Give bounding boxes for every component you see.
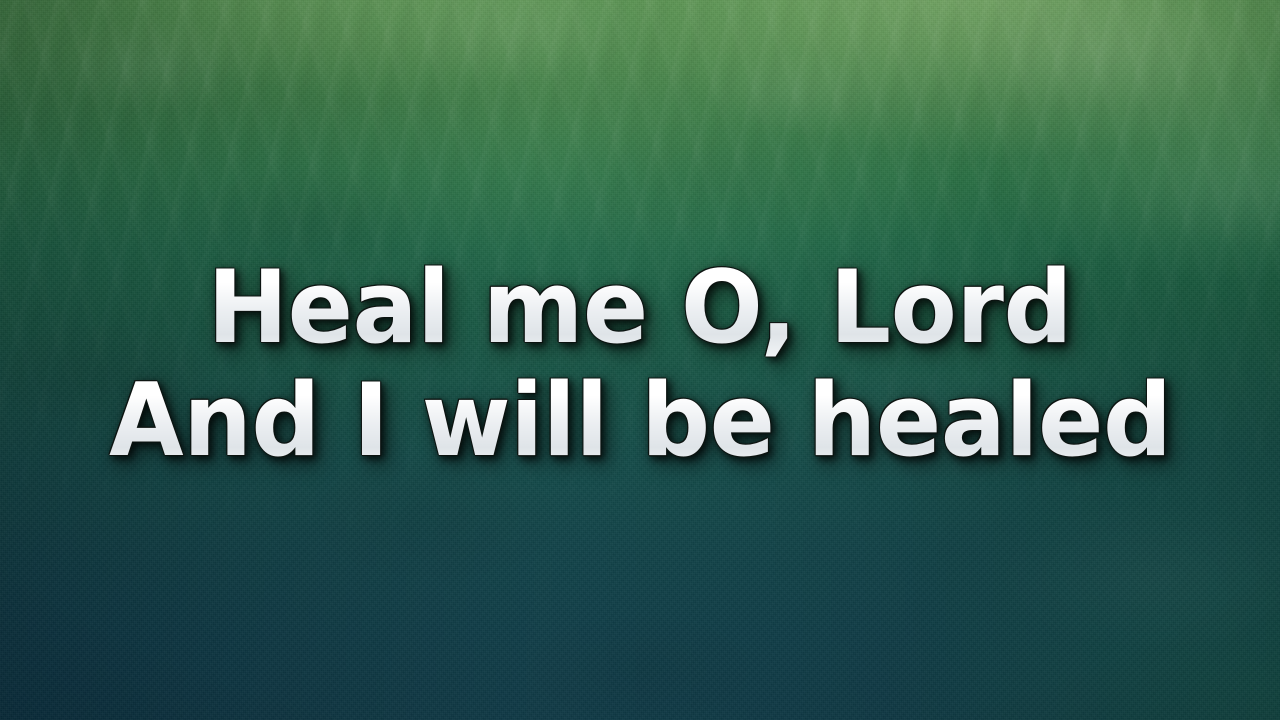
lyric-line-2: And I will be healed [109, 364, 1171, 477]
lyric-text-block: Heal me O, Lord And I will be healed [0, 0, 1280, 720]
lyric-line-1: Heal me O, Lord [208, 251, 1073, 364]
lyric-slide: Heal me O, Lord And I will be healed [0, 0, 1280, 720]
